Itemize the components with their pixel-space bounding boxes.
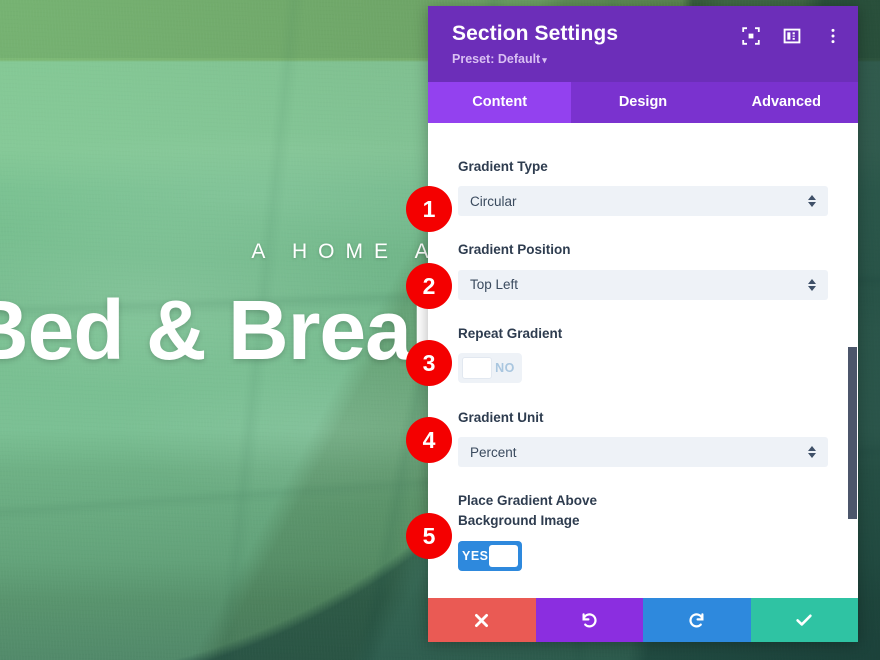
field-label-repeat-gradient: Repeat Gradient — [458, 324, 828, 344]
spinner-arrows-icon — [808, 195, 816, 207]
place-gradient-state: YES — [462, 549, 489, 563]
undo-button[interactable] — [536, 598, 644, 642]
save-button[interactable] — [751, 598, 859, 642]
field-label-gradient-position: Gradient Position — [458, 240, 828, 260]
field-place-gradient-above-background-image: Place Gradient Above Background Image YE… — [458, 491, 828, 571]
callout-badge-1: 1 — [406, 186, 452, 232]
header-icon-group — [741, 26, 842, 45]
screen: A HOME AWAY FROM Bed & Breakfast Section… — [0, 0, 880, 660]
gradient-unit-value: Percent — [470, 445, 517, 460]
section-settings-panel: Section Settings Preset: Default▾ — [428, 6, 858, 642]
layout-icon[interactable] — [782, 26, 801, 45]
redo-button[interactable] — [643, 598, 751, 642]
spinner-arrows-icon — [808, 446, 816, 458]
gradient-position-select[interactable]: Top Left — [458, 270, 828, 300]
tab-content[interactable]: Content — [428, 82, 571, 123]
settings-form: Gradient Type Circular Gradient Position… — [428, 123, 858, 598]
more-options-icon[interactable] — [823, 26, 842, 45]
undo-icon — [579, 610, 599, 630]
tab-design[interactable]: Design — [571, 82, 714, 123]
repeat-gradient-toggle[interactable]: NO — [458, 353, 522, 383]
gradient-unit-select[interactable]: Percent — [458, 437, 828, 467]
field-gradient-type: Gradient Type Circular — [458, 157, 828, 216]
repeat-gradient-state: NO — [492, 361, 518, 375]
checkmark-icon — [794, 610, 814, 630]
panel-scrollbar-thumb[interactable] — [848, 347, 857, 519]
preset-label: Preset: Default — [452, 52, 540, 66]
panel-header: Section Settings Preset: Default▾ — [428, 6, 858, 82]
callout-badge-3: 3 — [406, 340, 452, 386]
tab-advanced[interactable]: Advanced — [715, 82, 858, 123]
toggle-knob — [489, 545, 518, 567]
focus-icon[interactable] — [741, 26, 760, 45]
callout-badge-2: 2 — [406, 263, 452, 309]
gradient-type-select[interactable]: Circular — [458, 186, 828, 216]
field-repeat-gradient: Repeat Gradient NO — [458, 324, 828, 384]
preset-dropdown[interactable]: Preset: Default▾ — [452, 52, 547, 66]
field-label-gradient-type: Gradient Type — [458, 157, 828, 177]
callout-badge-5: 5 — [406, 513, 452, 559]
gradient-position-value: Top Left — [470, 277, 518, 292]
field-gradient-unit: Gradient Unit Percent — [458, 408, 828, 467]
panel-action-bar — [428, 598, 858, 642]
close-icon — [473, 612, 490, 629]
redo-icon — [687, 610, 707, 630]
place-gradient-above-toggle[interactable]: YES — [458, 541, 522, 571]
field-label-gradient-unit: Gradient Unit — [458, 408, 828, 428]
chevron-down-icon: ▾ — [542, 55, 547, 65]
gradient-type-value: Circular — [470, 194, 517, 209]
cancel-button[interactable] — [428, 598, 536, 642]
callout-badge-4: 4 — [406, 417, 452, 463]
field-gradient-position: Gradient Position Top Left — [458, 240, 828, 299]
tab-bar: Content Design Advanced — [428, 82, 858, 123]
field-label-place-gradient: Place Gradient Above Background Image — [458, 491, 648, 532]
panel-scrollbar-track[interactable] — [847, 123, 858, 598]
spinner-arrows-icon — [808, 279, 816, 291]
toggle-knob — [462, 357, 492, 379]
